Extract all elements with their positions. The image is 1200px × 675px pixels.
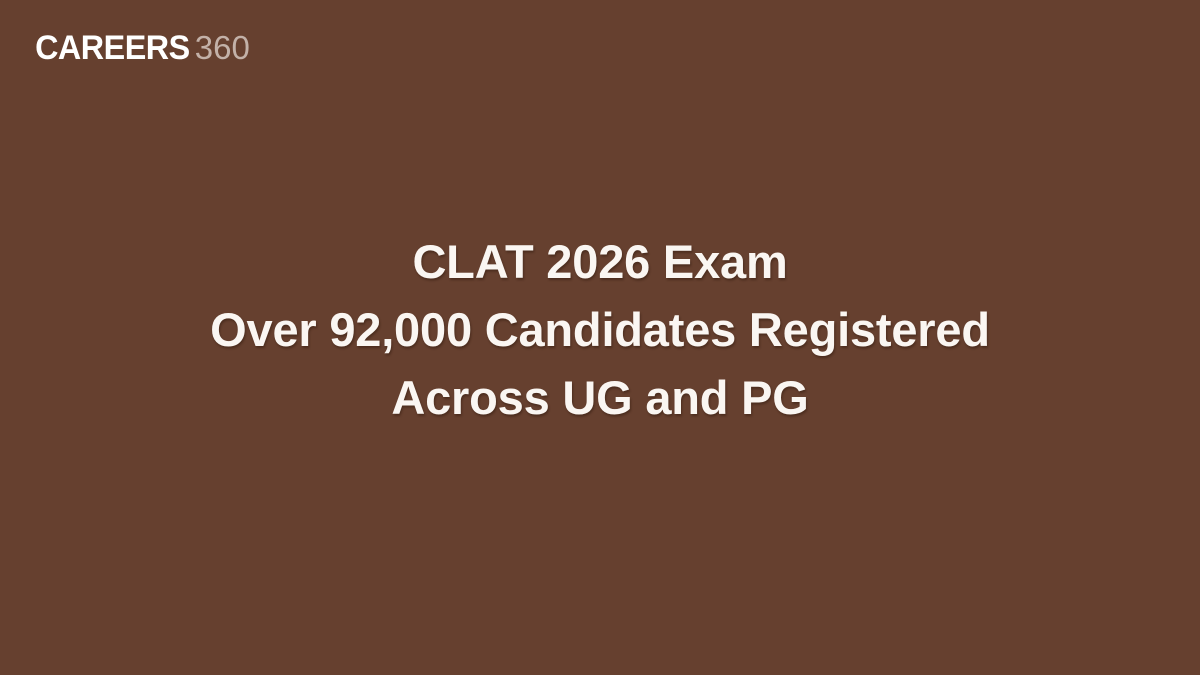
headline-line-2: Over 92,000 Candidates Registered	[40, 296, 1160, 364]
headline-line-3: Across UG and PG	[40, 364, 1160, 432]
careers360-logo[interactable]: CAREERS360	[31, 31, 250, 65]
logo-360-text: 360	[195, 31, 250, 64]
logo-careers-text: CAREERS	[35, 31, 190, 65]
headline-block: CLAT 2026 Exam Over 92,000 Candidates Re…	[0, 228, 1200, 432]
banner-canvas: CAREERS360 CLAT 2026 Exam Over 92,000 Ca…	[0, 0, 1200, 675]
headline-line-1: CLAT 2026 Exam	[40, 228, 1160, 296]
